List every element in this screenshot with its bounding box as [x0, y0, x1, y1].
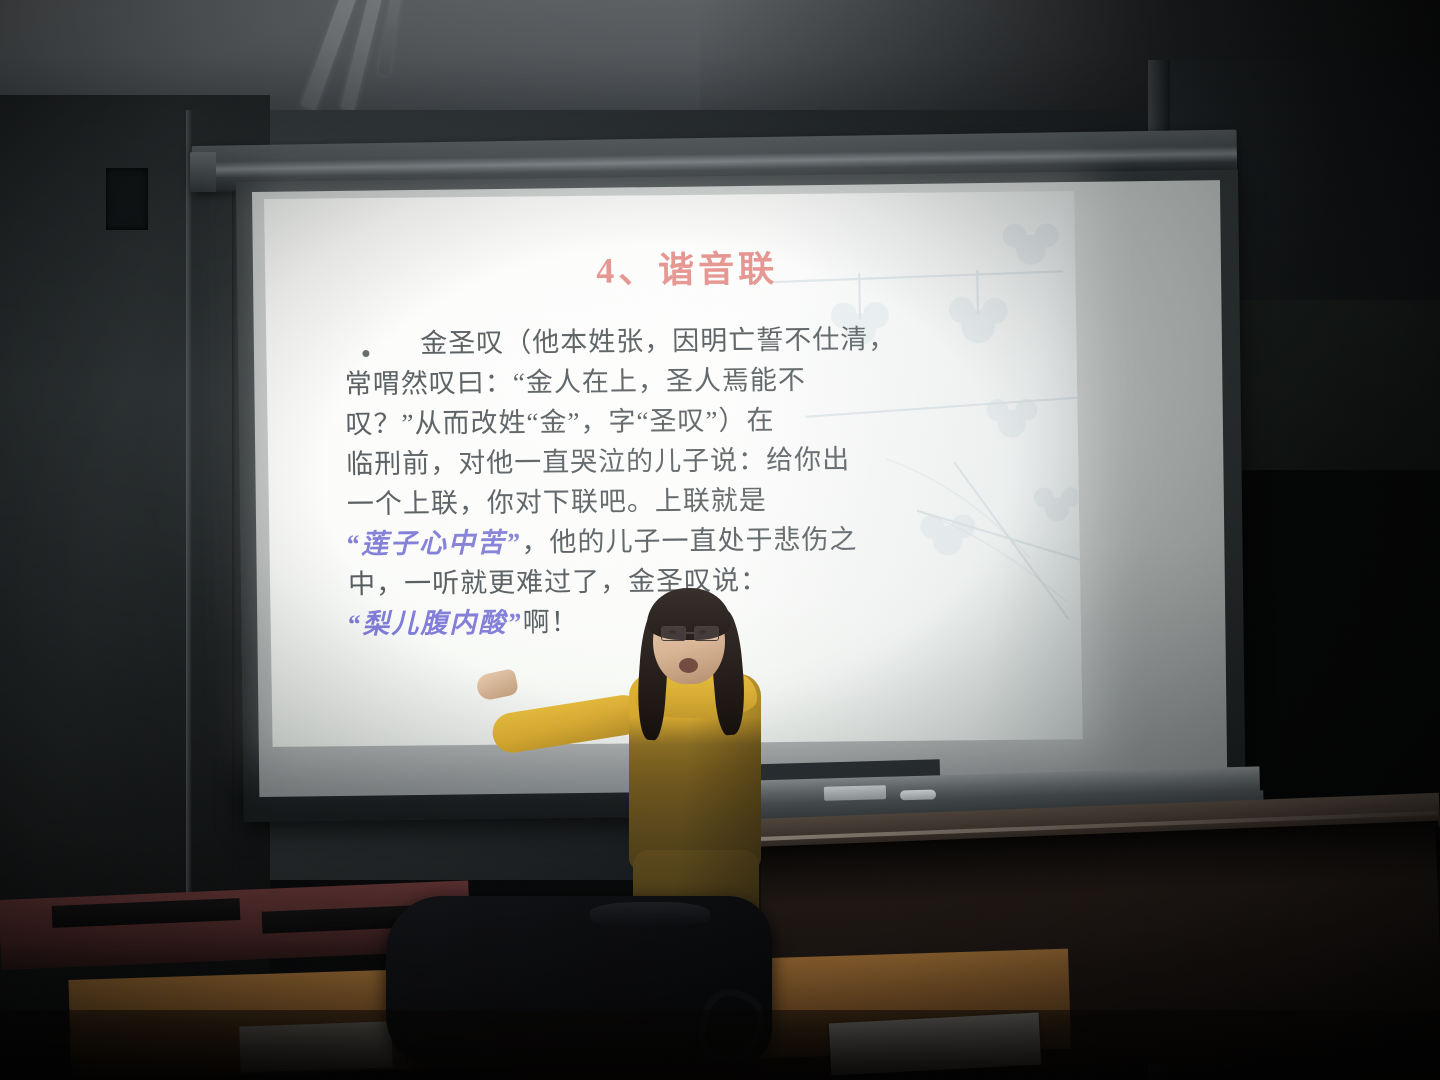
presenter-eye-left: [669, 630, 676, 634]
glasses-lens-right: [694, 626, 719, 641]
couplet-upper-tail: ，他的儿子一直处于悲伤之: [521, 524, 857, 557]
presenter-mouth: [679, 658, 698, 673]
glasses-bridge: [684, 632, 694, 634]
slide-line: 一个上联，你对下联吧。上联就是: [344, 478, 1045, 525]
slide-line: 常喟然叹曰：“金人在上，圣人焉能不: [343, 358, 1044, 405]
slide-title: 4、谐音联: [265, 237, 1076, 297]
classroom-photo-scene: 4、谐音联 金圣叹（他本姓张，因明亡誓不仕清， 常喟然叹曰：“金人在上，圣人焉能…: [0, 0, 1440, 1080]
slide-line: 叹？”从而改姓“金”，字“圣叹”）在: [343, 398, 1044, 445]
slide-line: 临刑前，对他一直哭泣的儿子说：给你出: [344, 438, 1045, 485]
slide-couplet-upper-line: “莲子心中苦”，他的儿子一直处于悲伤之: [345, 518, 1046, 565]
board-eraser[interactable]: [824, 785, 886, 801]
wall-column-edge: [232, 160, 236, 920]
screen-housing-end-cap: [190, 152, 216, 192]
front-desk-shadow: [0, 1010, 1440, 1080]
wall-column-edge: [186, 110, 192, 900]
presenter-eye-right: [699, 630, 706, 634]
couplet-upper-text: “莲子心中苦”: [345, 528, 521, 560]
couplet-lower-tail: 啊！: [522, 607, 578, 638]
backpack-highlight: [590, 902, 710, 928]
wall-recess-box: [106, 168, 148, 230]
slide-line: 金圣叹（他本姓张，因明亡誓不仕清，: [342, 318, 1043, 365]
couplet-lower-text: “梨儿腹内酸”: [346, 608, 522, 640]
